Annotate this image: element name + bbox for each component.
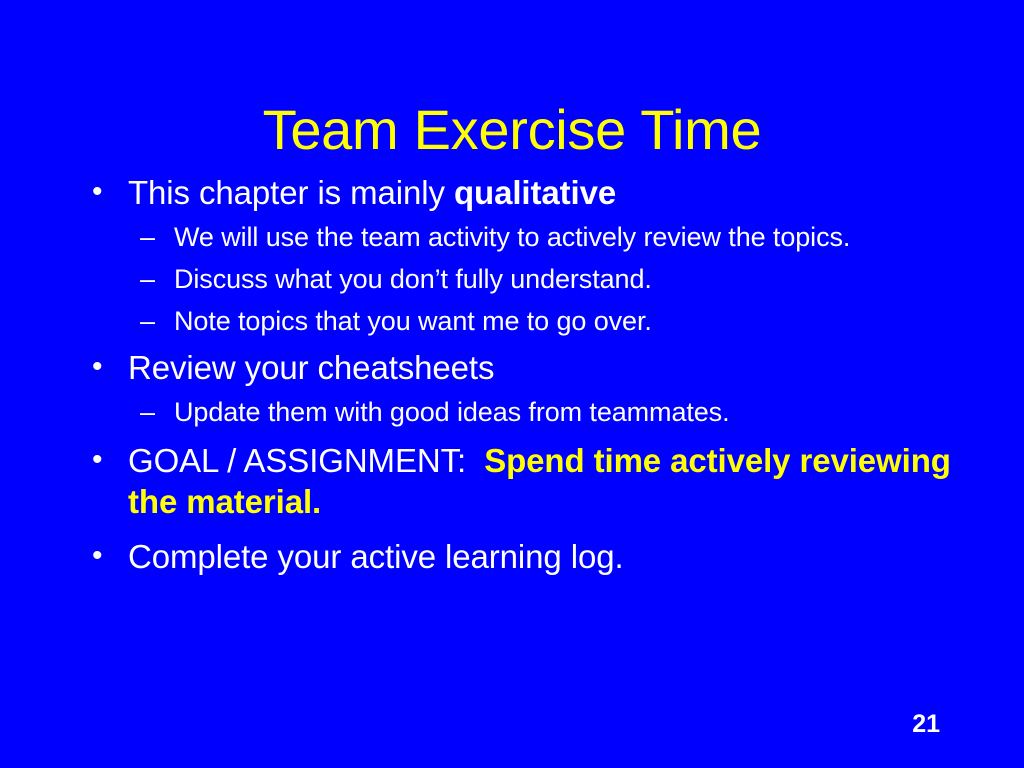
bullet-text-run-normal: This chapter is mainly [128, 174, 454, 211]
sub-bullet-item-team-activity: – We will use the team activity to activ… [86, 219, 958, 255]
bullet-item-review-cheatsheets: • Review your cheatsheets [86, 347, 958, 388]
sub-bullet-item-update-cheatsheets: – Update them with good ideas from teamm… [86, 394, 958, 430]
bullet-text: Complete your active learning log. [128, 538, 624, 575]
bullet-item-active-learning-log: • Complete your active learning log. [86, 536, 958, 577]
bullet-dot-icon: • [92, 346, 102, 387]
bullet-dash-icon: – [140, 219, 155, 255]
sub-bullet-text: Note topics that you want me to go over. [174, 306, 652, 336]
bullet-dot-icon: • [92, 439, 102, 480]
sub-bullet-item-discuss: – Discuss what you don’t fully understan… [86, 261, 958, 297]
sub-bullet-group-1: – We will use the team activity to activ… [86, 219, 958, 339]
bullet-dash-icon: – [140, 261, 155, 297]
bullet-dot-icon: • [92, 171, 102, 212]
bullet-dash-icon: – [140, 303, 155, 339]
slide-body: • This chapter is mainly qualitative – W… [86, 172, 958, 579]
bullet-item-chapter-qualitative: • This chapter is mainly qualitative [86, 172, 958, 213]
bullet-text-run-emphasis: qualitative [454, 174, 616, 211]
sub-bullet-group-2: – Update them with good ideas from teamm… [86, 394, 958, 430]
sub-bullet-text: Update them with good ideas from teammat… [174, 397, 729, 427]
page-title: Team Exercise Time [60, 100, 964, 160]
slide: Team Exercise Time • This chapter is mai… [0, 0, 1024, 768]
bullet-text-run-normal: GOAL / ASSIGNMENT: [128, 442, 484, 479]
sub-bullet-item-note-topics: – Note topics that you want me to go ove… [86, 303, 958, 339]
bullet-item-goal-assignment: • GOAL / ASSIGNMENT: Spend time actively… [86, 440, 958, 522]
bullet-dot-icon: • [92, 535, 102, 576]
sub-bullet-text: Discuss what you don’t fully understand. [174, 264, 652, 294]
bullet-text: Review your cheatsheets [128, 349, 494, 386]
bullet-dash-icon: – [140, 394, 155, 430]
sub-bullet-text: We will use the team activity to activel… [174, 222, 850, 252]
page-number: 21 [912, 710, 940, 738]
